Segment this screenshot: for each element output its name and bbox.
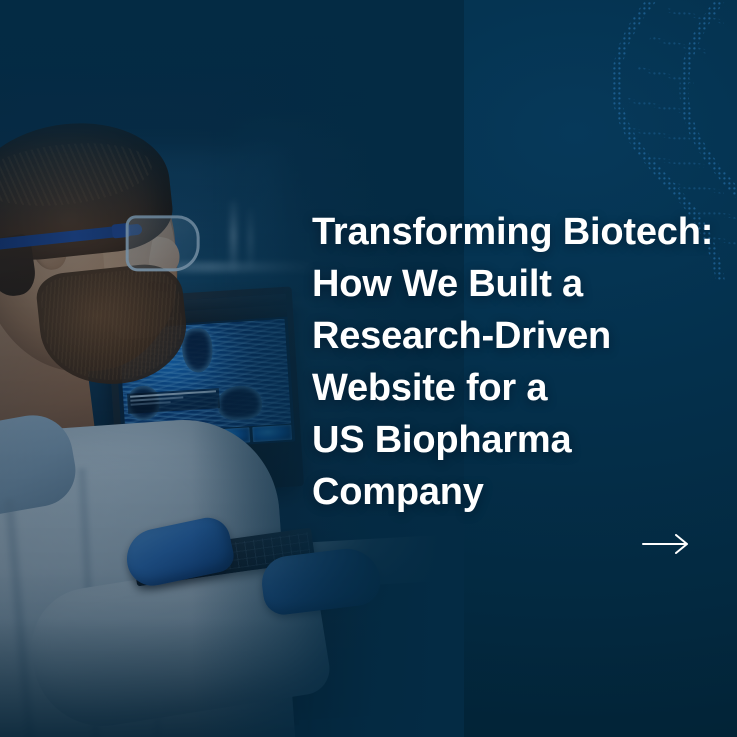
arrow-right-icon (642, 534, 690, 554)
headline-line-5: US Biopharma (312, 414, 724, 466)
page-title: Transforming Biotech: How We Built a Res… (312, 206, 724, 518)
headline-line-1: Transforming Biotech: (312, 206, 724, 258)
headline-line-3: Research-Driven (312, 310, 724, 362)
headline-line-2: How We Built a (312, 258, 724, 310)
promo-card: Transforming Biotech: How We Built a Res… (0, 0, 737, 737)
headline-line-6: Company (312, 466, 724, 518)
headline-line-4: Website for a (312, 362, 724, 414)
next-arrow-button[interactable] (638, 524, 694, 564)
